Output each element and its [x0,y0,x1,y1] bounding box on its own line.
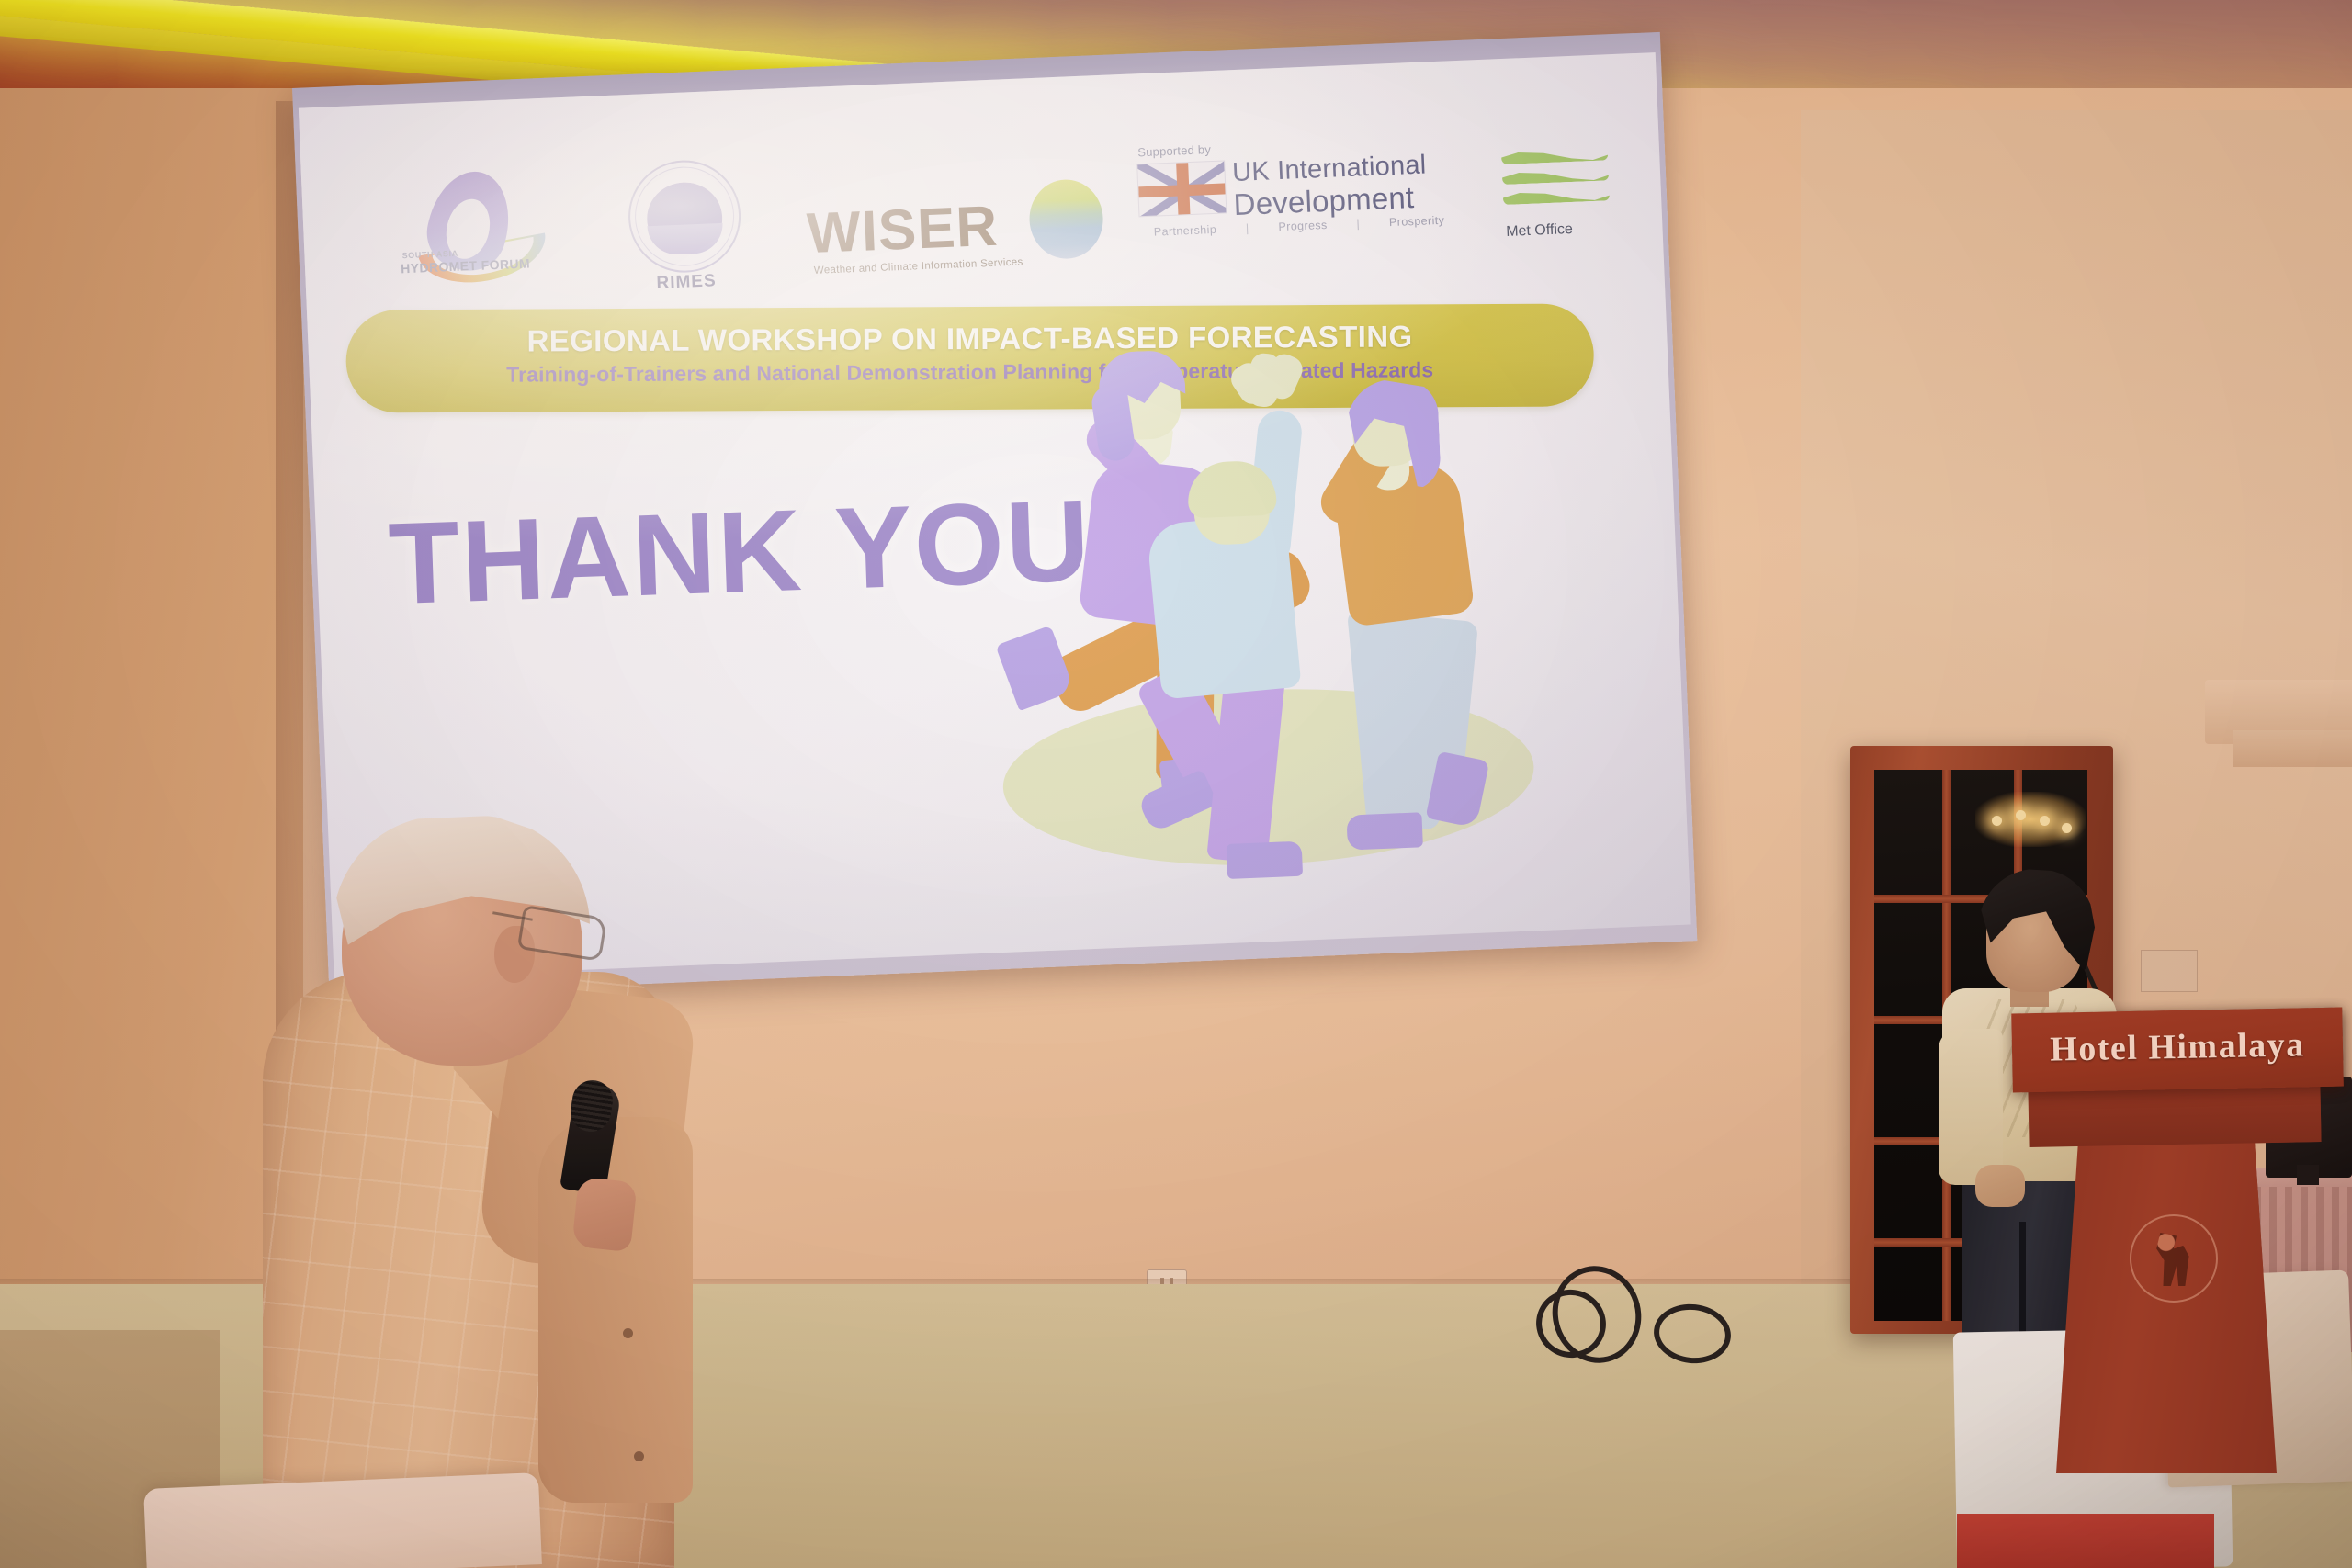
wiser-logo: WISER Weather and Climate Information Se… [805,166,1081,306]
right-cornice-lower [2233,730,2352,767]
podium-header-front: Hotel Himalaya [2011,1008,2344,1093]
podium-venue-label-front: Hotel Himalaya [2012,1024,2344,1071]
met-office-text: Met Office [1506,221,1573,241]
three-people-high-five-illustration [952,311,1564,923]
slide-logo-row: SOUTH ASIA HYDROMET FORUM RIMES WISER We… [350,109,1623,324]
met-office-waves-icon [1501,148,1611,219]
foreground-chair-back [143,1472,542,1568]
presenter-hand [571,1177,638,1252]
ukid-supported-by-text: Supported by [1137,142,1211,159]
monitor-stand [2297,1165,2319,1185]
left-wall [0,88,303,1301]
hotel-crest-emblem-front [2130,1214,2218,1303]
chandelier-through-door [1975,792,2086,847]
wiser-wordmark: WISER [806,194,1000,266]
south-asia-hydromet-forum-logo: SOUTH ASIA HYDROMET FORUM [393,164,556,323]
uk-international-development-logo: Supported by UK International Developmen… [1134,132,1460,292]
photo-scene: SOUTH ASIA HYDROMET FORUM RIMES WISER We… [0,0,2352,1568]
ukid-separator-2: | [1356,217,1360,230]
wiser-globe-icon [1028,178,1104,260]
presenter-with-microphone [263,808,722,1568]
ukid-value-partnership: Partnership [1154,223,1217,239]
podium-lip-front [2028,1085,2321,1147]
met-office-logo: Met Office [1495,135,1623,277]
ukid-value-prosperity: Prosperity [1389,214,1445,229]
podium-column-front [2056,1141,2277,1473]
rimes-logo-text: RIMES [613,269,761,296]
ukid-value-progress: Progress [1278,219,1328,233]
union-jack-flag-icon [1136,160,1227,217]
rimes-logo: RIMES [607,152,745,314]
red-furniture-edge [1957,1514,2214,1568]
ukid-separator-1: | [1246,221,1249,234]
